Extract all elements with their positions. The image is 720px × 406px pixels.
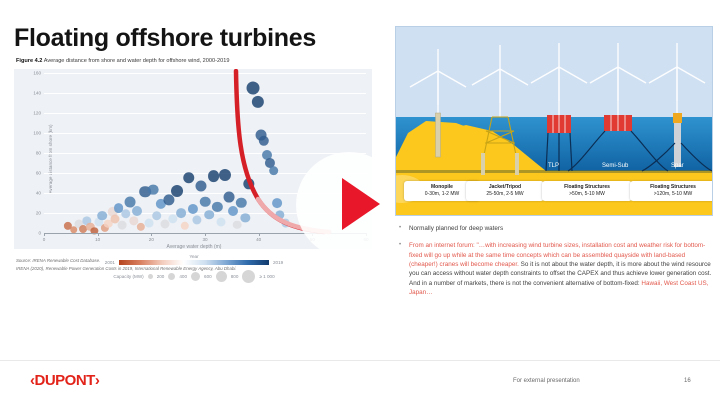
scatter-bubble (145, 218, 154, 227)
legend-capacity-title: Capacity (MW) (113, 274, 143, 279)
bullet-marker: • (399, 224, 409, 233)
tag-jacket: Jacket/Tripod 25-50m, 2-5 MW (466, 181, 544, 201)
grid-line (44, 93, 366, 94)
footer-note: For external presentation (513, 378, 580, 384)
tag-floating-2-name: Floating Structures (634, 184, 712, 191)
scatter-bubble (251, 96, 263, 108)
legend-capacity-label: 400 (179, 274, 187, 279)
scatter-bubble (241, 213, 250, 222)
bullet-list: •Normally planned for deep waters•From a… (399, 224, 714, 305)
legend-capacity-label: 200 (157, 274, 165, 279)
scatter-bubble (212, 202, 222, 212)
grid-line (44, 73, 366, 74)
bullet-marker: • (399, 241, 409, 297)
figure-caption-label: Figure 4.2 (16, 58, 42, 64)
legend-capacity-bubble (242, 270, 255, 283)
scatter-bubble (148, 185, 159, 196)
grid-line (44, 133, 366, 134)
scatter-bubble (247, 81, 260, 94)
logo-text: DUPONT (35, 372, 95, 389)
video-play-overlay[interactable] (296, 152, 408, 264)
x-tick-mark (44, 233, 45, 236)
tag-floating-1: Floating Structures >50m, 5-10 MW (542, 181, 632, 201)
y-tick-label: 160 (33, 70, 41, 75)
x-tick-mark (205, 233, 206, 236)
scatter-bubble (233, 221, 242, 230)
label-semisub: Semi-Sub (602, 163, 629, 169)
scatter-bubble (183, 172, 195, 184)
scatter-bubble (176, 208, 186, 218)
scatter-bubble (196, 180, 207, 191)
legend-capacity-label: 600 (204, 274, 212, 279)
scatter-bubble (132, 206, 142, 216)
scatter-bubble (180, 222, 188, 230)
scatter-bubble (219, 169, 231, 181)
y-tick-label: 60 (36, 170, 41, 175)
bullet-item: •Normally planned for deep waters (399, 224, 714, 233)
logo-right-chevron: › (95, 372, 100, 389)
x-tick-label: 40 (256, 237, 261, 242)
scatter-bubble (243, 178, 254, 189)
slide-root: Floating offshore turbines Figure 4.2 Av… (0, 0, 720, 406)
legend-capacity-label: ≥ 1 000 (259, 274, 274, 279)
tag-floating-2-spec: >120m, 5-10 MW (634, 191, 712, 198)
y-tick-label: 120 (33, 110, 41, 115)
scatter-bubble (208, 170, 220, 182)
legend-capacity-bubble (168, 273, 175, 280)
legend-capacity-bubble (191, 272, 200, 281)
x-tick-label: 20 (149, 237, 154, 242)
page-title: Floating offshore turbines (14, 24, 316, 53)
y-tick-label: 100 (33, 130, 41, 135)
scatter-bubble (281, 218, 290, 227)
x-tick-label: 10 (95, 237, 100, 242)
scatter-bubble (228, 206, 238, 216)
bullet-plain-text: Normally planned for deep waters (409, 225, 503, 232)
scatter-bubble (272, 198, 282, 208)
legend-capacity-label: 800 (231, 274, 239, 279)
scatter-bubble (152, 211, 162, 221)
y-tick-label: 80 (36, 150, 41, 155)
y-tick-label: 140 (33, 90, 41, 95)
figure-caption: Figure 4.2 Average distance from shore a… (16, 58, 374, 66)
x-tick-mark (259, 233, 260, 236)
scatter-bubble (192, 215, 201, 224)
footer-divider (0, 360, 720, 361)
legend-capacity-row: Capacity (MW) 200400600800≥ 1 000 (14, 270, 374, 283)
legend-capacity-bubble (148, 274, 153, 279)
tag-floating-2: Floating Structures >120m, 5-10 MW (630, 181, 713, 201)
foundation-types-illustration: TLP Semi-Sub Spar Monopile 0-30m, 1-2 MW… (395, 26, 713, 216)
label-spar: Spar (671, 163, 684, 169)
tag-floating-1-name: Floating Structures (546, 184, 628, 191)
scatter-bubble (200, 197, 211, 208)
bullet-item: •From an internet forum: "…with increasi… (399, 241, 714, 297)
x-tick-label: 30 (202, 237, 207, 242)
dupont-logo: ‹DUPONT› (30, 372, 99, 389)
bullet-text: Normally planned for deep waters (409, 224, 503, 233)
scatter-bubble (224, 191, 235, 202)
play-icon[interactable] (342, 178, 380, 230)
scatter-bubble (217, 217, 226, 226)
x-tick-mark (98, 233, 99, 236)
scatter-bubble (118, 220, 127, 229)
scatter-bubble (259, 136, 269, 146)
scatter-bubble (204, 210, 214, 220)
label-tlp: TLP (548, 163, 559, 169)
tag-floating-1-spec: >50m, 5-10 MW (546, 191, 628, 198)
y-tick-label: 40 (36, 190, 41, 195)
legend-capacity-bubble (216, 271, 227, 282)
grid-line (44, 113, 366, 114)
scatter-bubble (269, 166, 279, 176)
legend-year-max: 2019 (273, 260, 283, 265)
tag-jacket-name: Jacket/Tripod (470, 184, 540, 191)
bullet-text: From an internet forum: "…with increasin… (409, 241, 714, 297)
x-tick-label: 0 (43, 237, 46, 242)
page-number: 16 (684, 378, 691, 384)
scatter-bubble (236, 198, 246, 208)
legend-year-gradient (119, 260, 269, 265)
y-tick-label: 0 (38, 230, 41, 235)
x-tick-mark (151, 233, 152, 236)
legend-year-min: 2001 (105, 260, 115, 265)
tag-jacket-spec: 25-50m, 2-5 MW (470, 191, 540, 198)
y-tick-label: 20 (36, 210, 41, 215)
figure-caption-text: Average distance from shore and water de… (44, 58, 230, 64)
scatter-bubble (171, 185, 183, 197)
